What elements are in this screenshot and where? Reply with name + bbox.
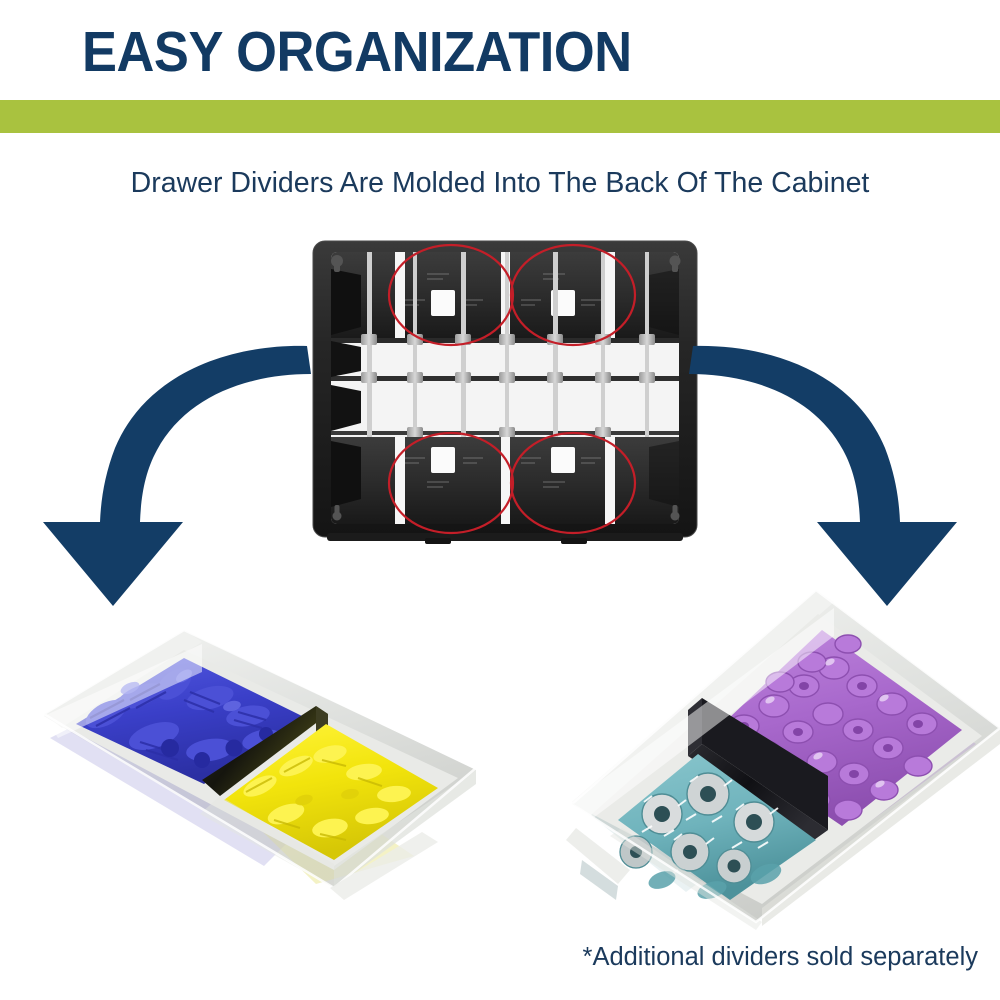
- molded-divider-bottom: [331, 437, 679, 524]
- divided-drawer-bin-beads: [566, 578, 1000, 930]
- accent-bar: [0, 100, 1000, 133]
- arrow-shape: [43, 346, 311, 606]
- arrow-shape: [689, 346, 957, 606]
- subtitle-text: Drawer Dividers Are Molded Into The Back…: [0, 163, 1000, 203]
- cabinet-back-image: [305, 235, 705, 553]
- infographic-page: EASY ORGANIZATION Drawer Dividers Are Mo…: [0, 0, 1000, 1000]
- footnote-text: *Additional dividers sold separately: [583, 940, 978, 974]
- divided-drawer-bin-hardware: [34, 588, 486, 918]
- curved-arrow-to-left-bin: [35, 338, 335, 608]
- curved-arrow-to-right-bin: [665, 338, 965, 608]
- page-title: EASY ORGANIZATION: [82, 16, 892, 88]
